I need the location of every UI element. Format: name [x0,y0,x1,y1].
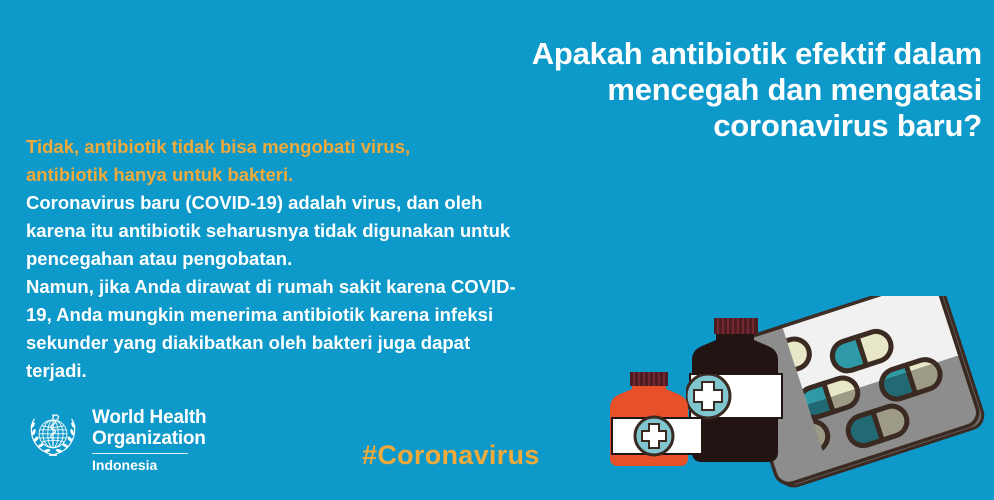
who-logo: World Health Organization Indonesia [24,406,206,473]
who-country-label: Indonesia [92,457,206,473]
headline-line-2: mencegah dan mengatasi [422,72,982,108]
lead-line-1: Tidak, antibiotik tidak bisa mengobati v… [26,133,606,161]
body-line-6: sekunder yang diakibatkan oleh bakteri j… [26,329,606,357]
who-emblem-icon [24,406,82,464]
logo-divider [92,453,188,454]
wordmark-line-1: World Health [92,408,206,429]
page-title: Apakah antibiotik efektif dalam mencegah… [422,36,982,144]
hashtag-label: #Coronavirus [362,440,540,471]
label-cross-symbol [686,374,730,418]
medicine-illustration-svg [596,296,994,496]
body-line-7: terjadi. [26,357,606,385]
who-wordmark: World Health Organization Indonesia [92,406,206,473]
body-line-4: Namun, jika Anda dirawat di rumah sakit … [26,273,606,301]
body-line-1: Coronavirus baru (COVID-19) adalah virus… [26,189,606,217]
headline-line-1: Apakah antibiotik efektif dalam [422,36,982,72]
label-cross-symbol [635,417,673,455]
body-line-5: 19, Anda mungkin menerima antibiotik kar… [26,301,606,329]
body-copy: Tidak, antibiotik tidak bisa mengobati v… [26,133,606,385]
who-covid-infographic: Apakah antibiotik efektif dalam mencegah… [0,0,994,500]
body-line-2: karena itu antibiotik seharusnya tidak d… [26,217,606,245]
lead-line-2: antibiotik hanya untuk bakteri. [26,161,606,189]
body-line-3: pencegahan atau pengobatan. [26,245,606,273]
wordmark-line-2: Organization [92,429,206,450]
medicine-illustration [596,296,994,496]
